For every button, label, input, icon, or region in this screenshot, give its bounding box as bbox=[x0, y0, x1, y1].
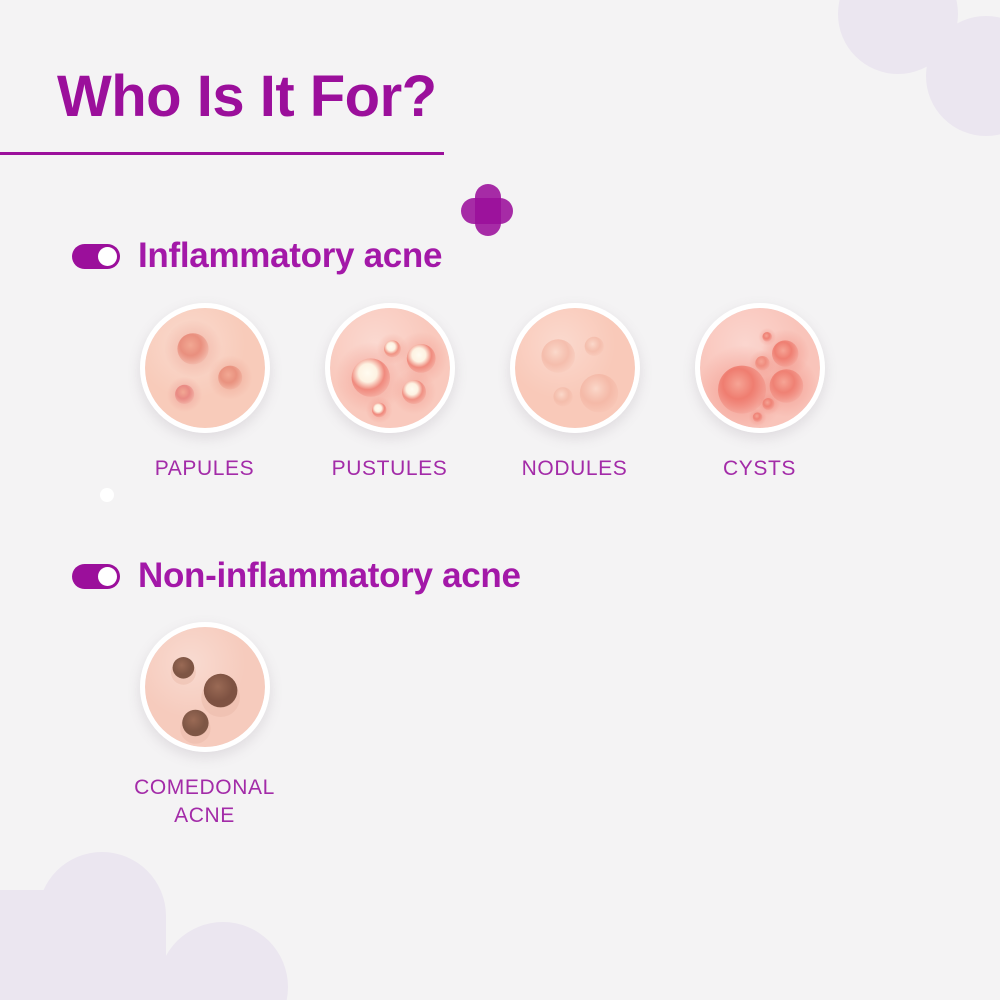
skin-texture bbox=[330, 308, 450, 428]
section-header-non-inflammatory: Non-inflammatory acne bbox=[72, 556, 521, 596]
toggle-inflammatory-acne[interactable] bbox=[72, 244, 120, 269]
acne-type-card[interactable]: COMEDONAL ACNE bbox=[112, 622, 297, 829]
section-header-inflammatory: Inflammatory acne bbox=[72, 236, 442, 276]
decorative-dot bbox=[100, 488, 114, 502]
skin-texture bbox=[515, 308, 635, 428]
pustules-skin-illustration bbox=[325, 303, 455, 433]
section-title-inflammatory: Inflammatory acne bbox=[138, 236, 442, 276]
acne-type-card[interactable]: PAPULES bbox=[112, 303, 297, 483]
acne-type-card[interactable]: CYSTS bbox=[667, 303, 852, 483]
background-blob-bottom-left-c bbox=[158, 922, 288, 1000]
acne-type-label: CYSTS bbox=[723, 455, 796, 483]
comedonal-acne-skin-illustration bbox=[140, 622, 270, 752]
acne-type-card[interactable]: PUSTULES bbox=[297, 303, 482, 483]
cysts-skin-illustration bbox=[695, 303, 825, 433]
background-blob-bottom-left-b bbox=[0, 890, 106, 1000]
toggle-knob bbox=[98, 567, 117, 586]
skin-texture bbox=[700, 308, 820, 428]
skin-texture bbox=[145, 308, 265, 428]
skin-texture bbox=[145, 627, 265, 747]
card-row-non-inflammatory: COMEDONAL ACNE bbox=[112, 622, 297, 829]
toggle-non-inflammatory-acne[interactable] bbox=[72, 564, 120, 589]
background-blob-bottom-left-a bbox=[38, 852, 166, 1000]
page-title: Who Is It For? bbox=[57, 68, 437, 126]
card-row-inflammatory: PAPULESPUSTULESNODULESCYSTS bbox=[112, 303, 852, 483]
plus-cross-vertical-bar bbox=[475, 184, 501, 236]
acne-type-label: COMEDONAL ACNE bbox=[134, 774, 275, 829]
section-title-non-inflammatory: Non-inflammatory acne bbox=[138, 556, 521, 596]
acne-type-card[interactable]: NODULES bbox=[482, 303, 667, 483]
page-header: Who Is It For? bbox=[0, 60, 1000, 180]
acne-type-label: NODULES bbox=[522, 455, 628, 483]
nodules-skin-illustration bbox=[510, 303, 640, 433]
title-underline bbox=[0, 152, 444, 155]
acne-type-label: PUSTULES bbox=[332, 455, 448, 483]
toggle-knob bbox=[98, 247, 117, 266]
plus-cross-icon bbox=[461, 184, 513, 236]
papules-skin-illustration bbox=[140, 303, 270, 433]
acne-type-label: PAPULES bbox=[155, 455, 255, 483]
